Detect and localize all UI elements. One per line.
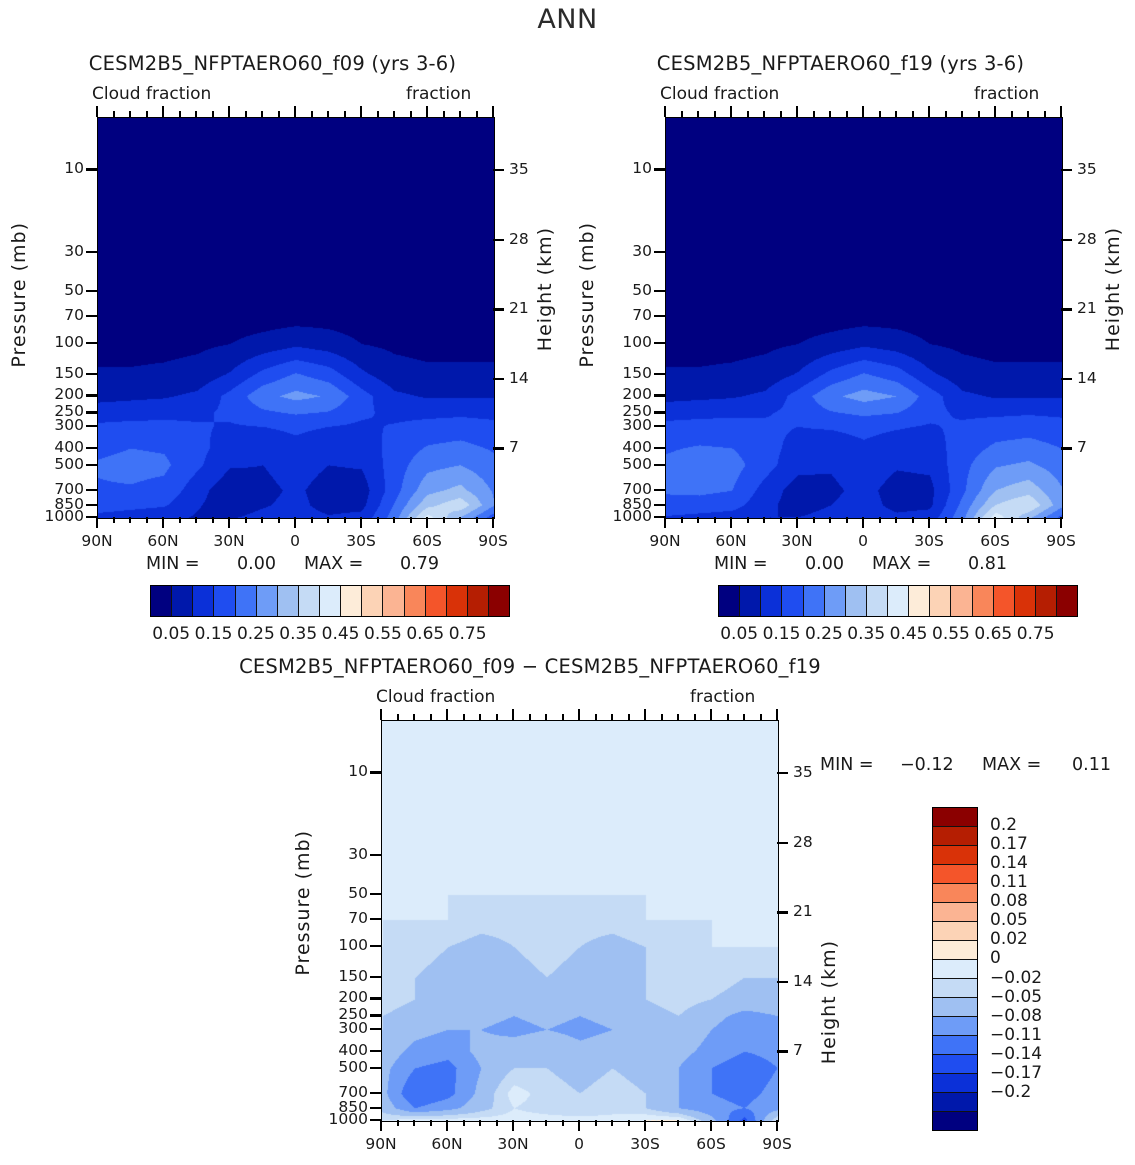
lat-minor-tick <box>763 517 765 523</box>
colorbar-cell <box>1057 586 1077 616</box>
lat-minor-tick-top <box>681 111 683 117</box>
lat-tick <box>228 517 230 528</box>
colorbar-cell <box>278 586 299 616</box>
lat-tick-top <box>294 106 296 117</box>
pressure-tick <box>86 425 97 427</box>
lat-minor-tick <box>212 517 214 523</box>
colorbar-cell <box>214 586 235 616</box>
lat-minor-tick <box>113 517 115 523</box>
pressure-ticklabel: 150 <box>54 364 84 382</box>
pressure-tick <box>654 290 665 292</box>
height-tick <box>493 447 504 449</box>
lat-ticklabel: 0 <box>858 532 868 550</box>
panel-top-left-min-value: 0.00 <box>237 554 276 574</box>
height-ticklabel: 7 <box>1077 438 1087 456</box>
lat-tick <box>994 517 996 528</box>
lat-ticklabel: 90N <box>81 532 112 550</box>
lat-minor-tick <box>895 517 897 523</box>
colorbar-cell <box>299 586 320 616</box>
lat-minor-tick <box>1044 517 1046 523</box>
lat-minor-tick <box>344 517 346 523</box>
lat-minor-tick-top <box>212 111 214 117</box>
pressure-tick <box>654 373 665 375</box>
colorbar-cell <box>489 586 509 616</box>
pressure-tick <box>86 447 97 449</box>
lat-tick <box>492 517 494 528</box>
lat-minor-tick <box>846 517 848 523</box>
lat-minor-tick-top <box>443 111 445 117</box>
lat-tick-top <box>162 106 164 117</box>
lat-minor-tick-top <box>459 111 461 117</box>
colorbar-cell <box>846 586 867 616</box>
height-tick <box>1061 378 1072 380</box>
height-ticklabel: 21 <box>509 299 529 317</box>
pressure-ticklabel: 50 <box>632 281 652 299</box>
colorbar-ticklabel: 0.14 <box>990 853 1028 873</box>
pressure-tick <box>86 290 97 292</box>
height-tick <box>493 239 504 241</box>
height-ticklabel: 21 <box>1077 299 1097 317</box>
lat-tick <box>162 517 164 528</box>
lat-minor-tick-top <box>179 111 181 117</box>
lat-minor-tick-top <box>113 111 115 117</box>
lat-ticklabel: 60S <box>412 532 442 550</box>
lat-tick <box>664 517 666 528</box>
panel-top-left-ticks: 1030507010015020025030040050070085010003… <box>0 52 567 612</box>
pressure-tick <box>654 411 665 413</box>
lat-minor-tick <box>978 517 980 523</box>
colorbar-cell <box>888 586 909 616</box>
colorbar-cell <box>341 586 362 616</box>
colorbar-ticklabel: 0.65 <box>406 624 444 644</box>
pressure-tick <box>654 168 665 170</box>
lat-minor-tick <box>129 517 131 523</box>
lat-tick <box>426 517 428 528</box>
colorbar-cell <box>383 586 404 616</box>
colorbar-ticklabel: −0.02 <box>990 968 1042 988</box>
lat-tick-top <box>360 106 362 117</box>
colorbar-cell <box>825 586 846 616</box>
height-ticklabel: 35 <box>509 160 529 178</box>
colorbar-ticklabel: −0.14 <box>990 1044 1042 1064</box>
lat-ticklabel: 90S <box>1046 532 1076 550</box>
lat-tick-top <box>796 106 798 117</box>
lat-minor-tick <box>410 517 412 523</box>
lat-minor-tick <box>945 517 947 523</box>
lat-minor-tick <box>747 517 749 523</box>
lat-minor-tick-top <box>344 111 346 117</box>
lat-minor-tick <box>393 517 395 523</box>
lat-ticklabel: 60N <box>715 532 746 550</box>
lat-ticklabel: 60N <box>147 532 178 550</box>
pressure-tick <box>86 168 97 170</box>
lat-ticklabel: 30S <box>914 532 944 550</box>
pressure-ticklabel: 10 <box>64 159 84 177</box>
colorbar-ticklabel: 0.55 <box>364 624 402 644</box>
lat-minor-tick <box>813 517 815 523</box>
lat-minor-tick-top <box>1027 111 1029 117</box>
colorbar-ticklabel: 0.02 <box>990 929 1028 949</box>
pressure-tick <box>654 425 665 427</box>
lat-minor-tick <box>459 517 461 523</box>
lat-minor-tick <box>912 517 914 523</box>
pressure-tick <box>86 315 97 317</box>
lat-minor-tick-top <box>1044 111 1046 117</box>
colorbar-cell <box>951 586 972 616</box>
lat-ticklabel: 0 <box>290 532 300 550</box>
height-ticklabel: 7 <box>509 438 519 456</box>
pressure-ticklabel: 500 <box>54 455 84 473</box>
colorbar-ticklabel: 0.05 <box>990 910 1028 930</box>
colorbar-cell <box>1036 586 1057 616</box>
height-tick <box>1061 308 1072 310</box>
lat-minor-tick-top <box>747 111 749 117</box>
lat-minor-tick-top <box>129 111 131 117</box>
lat-minor-tick-top <box>780 111 782 117</box>
lat-minor-tick-top <box>195 111 197 117</box>
colorbar-cell <box>782 586 803 616</box>
colorbar-difference-labels: 0.20.170.140.110.080.050.020−0.02−0.05−0… <box>0 655 1135 1165</box>
colorbar-ticklabel: 0.35 <box>279 624 317 644</box>
pressure-ticklabel: 30 <box>632 242 652 260</box>
lat-minor-tick <box>179 517 181 523</box>
height-tick <box>493 308 504 310</box>
colorbar-ticklabel: 0.08 <box>990 891 1028 911</box>
colorbar-ticklabel: 0.75 <box>449 624 487 644</box>
panel-top-left: CESM2B5_NFPTAERO60_f09 (yrs 3-6) Cloud f… <box>0 52 567 612</box>
lat-minor-tick <box>245 517 247 523</box>
height-tick <box>1061 239 1072 241</box>
colorbar-cell <box>930 586 951 616</box>
lat-minor-tick-top <box>245 111 247 117</box>
lat-minor-tick <box>261 517 263 523</box>
lat-minor-tick <box>146 517 148 523</box>
lat-minor-tick <box>377 517 379 523</box>
colorbar-top-right-labels: 0.050.150.250.350.450.550.650.75 <box>568 624 1135 650</box>
lat-minor-tick <box>961 517 963 523</box>
lat-minor-tick <box>714 517 716 523</box>
colorbar-cell <box>362 586 383 616</box>
lat-minor-tick <box>697 517 699 523</box>
lat-minor-tick-top <box>410 111 412 117</box>
colorbar-ticklabel: 0.55 <box>932 624 970 644</box>
panel-top-right-max-label: MAX = <box>872 554 931 574</box>
height-ticklabel: 14 <box>1077 369 1097 387</box>
panel-top-right-ticks: 1030507010015020025030040050070085010003… <box>568 52 1135 612</box>
pressure-tick <box>654 447 665 449</box>
pressure-tick <box>86 464 97 466</box>
lat-tick-top <box>96 106 98 117</box>
lat-ticklabel: 90N <box>649 532 680 550</box>
lat-minor-tick-top <box>311 111 313 117</box>
lat-minor-tick <box>829 517 831 523</box>
lat-ticklabel: 30N <box>213 532 244 550</box>
lat-minor-tick-top <box>829 111 831 117</box>
colorbar-ticklabel: 0.35 <box>847 624 885 644</box>
lat-tick <box>862 517 864 528</box>
pressure-tick <box>86 373 97 375</box>
colorbar-ticklabel: 0.65 <box>974 624 1012 644</box>
colorbar-cell <box>257 586 278 616</box>
pressure-tick <box>654 342 665 344</box>
colorbar-ticklabel: −0.17 <box>990 1063 1042 1083</box>
lat-minor-tick <box>681 517 683 523</box>
colorbar-ticklabel: −0.08 <box>990 1006 1042 1026</box>
lat-minor-tick-top <box>846 111 848 117</box>
lat-tick-top <box>730 106 732 117</box>
height-ticklabel: 28 <box>1077 230 1097 248</box>
lat-ticklabel: 60S <box>980 532 1010 550</box>
colorbar-cell <box>1015 586 1036 616</box>
lat-minor-tick <box>780 517 782 523</box>
pressure-tick <box>86 489 97 491</box>
height-tick <box>1061 447 1072 449</box>
pressure-tick <box>654 504 665 506</box>
colorbar-ticklabel: 0 <box>990 948 1001 968</box>
height-tick <box>493 169 504 171</box>
panel-top-left-max-label: MAX = <box>304 554 363 574</box>
lat-minor-tick-top <box>879 111 881 117</box>
colorbar-ticklabel: 0.15 <box>763 624 801 644</box>
colorbar-cell <box>804 586 825 616</box>
pressure-ticklabel: 10 <box>632 159 652 177</box>
pressure-tick <box>86 251 97 253</box>
lat-tick-top <box>994 106 996 117</box>
pressure-ticklabel: 200 <box>622 385 652 403</box>
lat-tick <box>928 517 930 528</box>
lat-minor-tick-top <box>697 111 699 117</box>
lat-minor-tick-top <box>912 111 914 117</box>
colorbar-ticklabel: 0.05 <box>720 624 758 644</box>
colorbar-ticklabel: 0.45 <box>890 624 928 644</box>
lat-tick-top <box>928 106 930 117</box>
colorbar-ticklabel: 0.25 <box>237 624 275 644</box>
pressure-tick <box>86 504 97 506</box>
figure-season-title: ANN <box>0 4 1135 35</box>
pressure-tick <box>654 489 665 491</box>
pressure-tick <box>654 315 665 317</box>
pressure-ticklabel: 30 <box>64 242 84 260</box>
colorbar-ticklabel: 0.11 <box>990 872 1028 892</box>
pressure-ticklabel: 400 <box>622 438 652 456</box>
pressure-ticklabel: 150 <box>622 364 652 382</box>
colorbar-cell <box>719 586 740 616</box>
lat-tick-top <box>492 106 494 117</box>
pressure-tick <box>86 394 97 396</box>
lat-minor-tick <box>879 517 881 523</box>
lat-minor-tick <box>1027 517 1029 523</box>
lat-minor-tick-top <box>476 111 478 117</box>
colorbar-cell <box>236 586 257 616</box>
colorbar-ticklabel: −0.05 <box>990 987 1042 1007</box>
lat-minor-tick-top <box>813 111 815 117</box>
pressure-tick <box>654 251 665 253</box>
panel-top-left-max-value: 0.79 <box>400 554 439 574</box>
lat-minor-tick-top <box>978 111 980 117</box>
lat-minor-tick-top <box>763 111 765 117</box>
colorbar-ticklabel: −0.11 <box>990 1025 1042 1045</box>
lat-tick-top <box>426 106 428 117</box>
colorbar-cell <box>447 586 468 616</box>
colorbar-cell <box>468 586 489 616</box>
lat-tick <box>796 517 798 528</box>
pressure-ticklabel: 100 <box>622 333 652 351</box>
colorbar-top-left-labels: 0.050.150.250.350.450.550.650.75 <box>0 624 567 650</box>
lat-minor-tick-top <box>377 111 379 117</box>
lat-minor-tick-top <box>261 111 263 117</box>
lat-minor-tick <box>327 517 329 523</box>
panel-top-left-min-label: MIN = <box>146 554 200 574</box>
lat-minor-tick <box>443 517 445 523</box>
lat-minor-tick-top <box>327 111 329 117</box>
pressure-tick <box>86 411 97 413</box>
pressure-ticklabel: 200 <box>54 385 84 403</box>
colorbar-cell <box>740 586 761 616</box>
lat-minor-tick <box>311 517 313 523</box>
pressure-ticklabel: 300 <box>54 416 84 434</box>
colorbar-ticklabel: 0.45 <box>322 624 360 644</box>
colorbar-ticklabel: 0.2 <box>990 815 1017 835</box>
lat-minor-tick <box>476 517 478 523</box>
lat-minor-tick <box>195 517 197 523</box>
lat-tick <box>360 517 362 528</box>
lat-minor-tick <box>1011 517 1013 523</box>
lat-minor-tick-top <box>895 111 897 117</box>
colorbar-cell <box>151 586 172 616</box>
lat-minor-tick-top <box>714 111 716 117</box>
lat-ticklabel: 90S <box>478 532 508 550</box>
colorbar-cell <box>909 586 930 616</box>
pressure-ticklabel: 1000 <box>45 507 84 525</box>
lat-minor-tick-top <box>961 111 963 117</box>
lat-minor-tick-top <box>146 111 148 117</box>
lat-ticklabel: 30N <box>781 532 812 550</box>
panel-top-right-min-value: 0.00 <box>805 554 844 574</box>
pressure-ticklabel: 1000 <box>613 507 652 525</box>
lat-tick <box>294 517 296 528</box>
pressure-ticklabel: 50 <box>64 281 84 299</box>
pressure-ticklabel: 70 <box>64 306 84 324</box>
colorbar-ticklabel: 0.25 <box>805 624 843 644</box>
pressure-ticklabel: 400 <box>54 438 84 456</box>
colorbar-ticklabel: 0.75 <box>1017 624 1055 644</box>
pressure-ticklabel: 70 <box>632 306 652 324</box>
colorbar-cell <box>761 586 782 616</box>
colorbar-ticklabel: 0.15 <box>195 624 233 644</box>
lat-tick-top <box>664 106 666 117</box>
lat-tick-top <box>862 106 864 117</box>
lat-ticklabel: 30S <box>346 532 376 550</box>
pressure-ticklabel: 300 <box>622 416 652 434</box>
colorbar-ticklabel: −0.2 <box>990 1082 1031 1102</box>
lat-tick-top <box>228 106 230 117</box>
lat-minor-tick-top <box>945 111 947 117</box>
height-ticklabel: 35 <box>1077 160 1097 178</box>
panel-top-right-max-value: 0.81 <box>968 554 1007 574</box>
lat-minor-tick <box>278 517 280 523</box>
pressure-ticklabel: 100 <box>54 333 84 351</box>
colorbar-cell <box>405 586 426 616</box>
height-ticklabel: 14 <box>509 369 529 387</box>
colorbar-top-left[interactable] <box>150 585 510 617</box>
colorbar-ticklabel: 0.17 <box>990 834 1028 854</box>
colorbar-cell <box>994 586 1015 616</box>
colorbar-cell <box>867 586 888 616</box>
pressure-ticklabel: 500 <box>622 455 652 473</box>
lat-minor-tick-top <box>393 111 395 117</box>
lat-tick <box>96 517 98 528</box>
pressure-tick <box>86 342 97 344</box>
lat-tick <box>1060 517 1062 528</box>
colorbar-cell <box>973 586 994 616</box>
colorbar-cell <box>426 586 447 616</box>
panel-top-right-min-label: MIN = <box>714 554 768 574</box>
height-tick <box>493 378 504 380</box>
colorbar-top-right[interactable] <box>718 585 1078 617</box>
colorbar-ticklabel: 0.05 <box>152 624 190 644</box>
pressure-tick <box>654 394 665 396</box>
lat-minor-tick-top <box>1011 111 1013 117</box>
colorbar-cell <box>193 586 214 616</box>
height-ticklabel: 28 <box>509 230 529 248</box>
colorbar-cell <box>320 586 341 616</box>
panel-difference: CESM2B5_NFPTAERO60_f09 − CESM2B5_NFPTAER… <box>0 655 1135 1165</box>
height-tick <box>1061 169 1072 171</box>
pressure-tick <box>654 464 665 466</box>
panel-top-right: CESM2B5_NFPTAERO60_f19 (yrs 3-6) Cloud f… <box>568 52 1135 612</box>
colorbar-cell <box>172 586 193 616</box>
lat-tick <box>730 517 732 528</box>
lat-tick-top <box>1060 106 1062 117</box>
lat-minor-tick-top <box>278 111 280 117</box>
